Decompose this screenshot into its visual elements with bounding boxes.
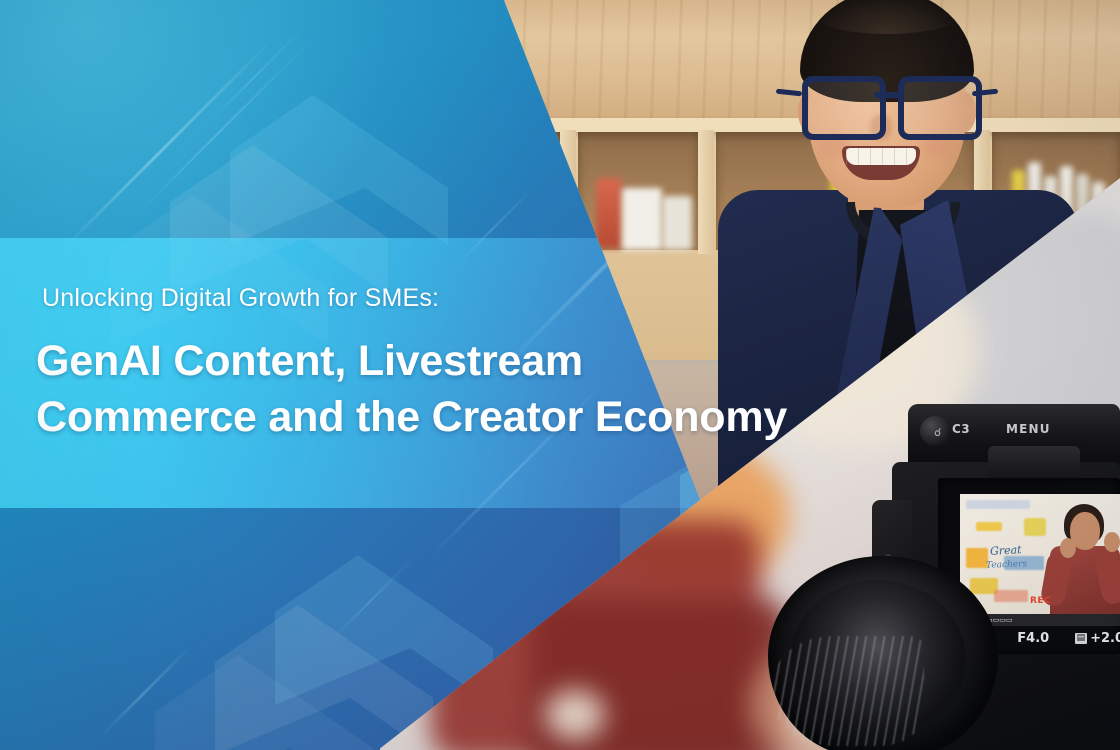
eyebrow-text: Unlocking Digital Growth for SMEs: — [42, 284, 439, 313]
headline-block: Unlocking Digital Growth for SMEs: GenAI… — [0, 0, 1120, 750]
page-title: GenAI Content, Livestream Commerce and t… — [36, 334, 836, 446]
headline-line-2: Commerce and the Creator Economy — [36, 390, 836, 446]
headline-line-1: GenAI Content, Livestream — [36, 334, 836, 390]
hero-banner: ☌ C3 MENU Great Teachers — [0, 0, 1120, 750]
